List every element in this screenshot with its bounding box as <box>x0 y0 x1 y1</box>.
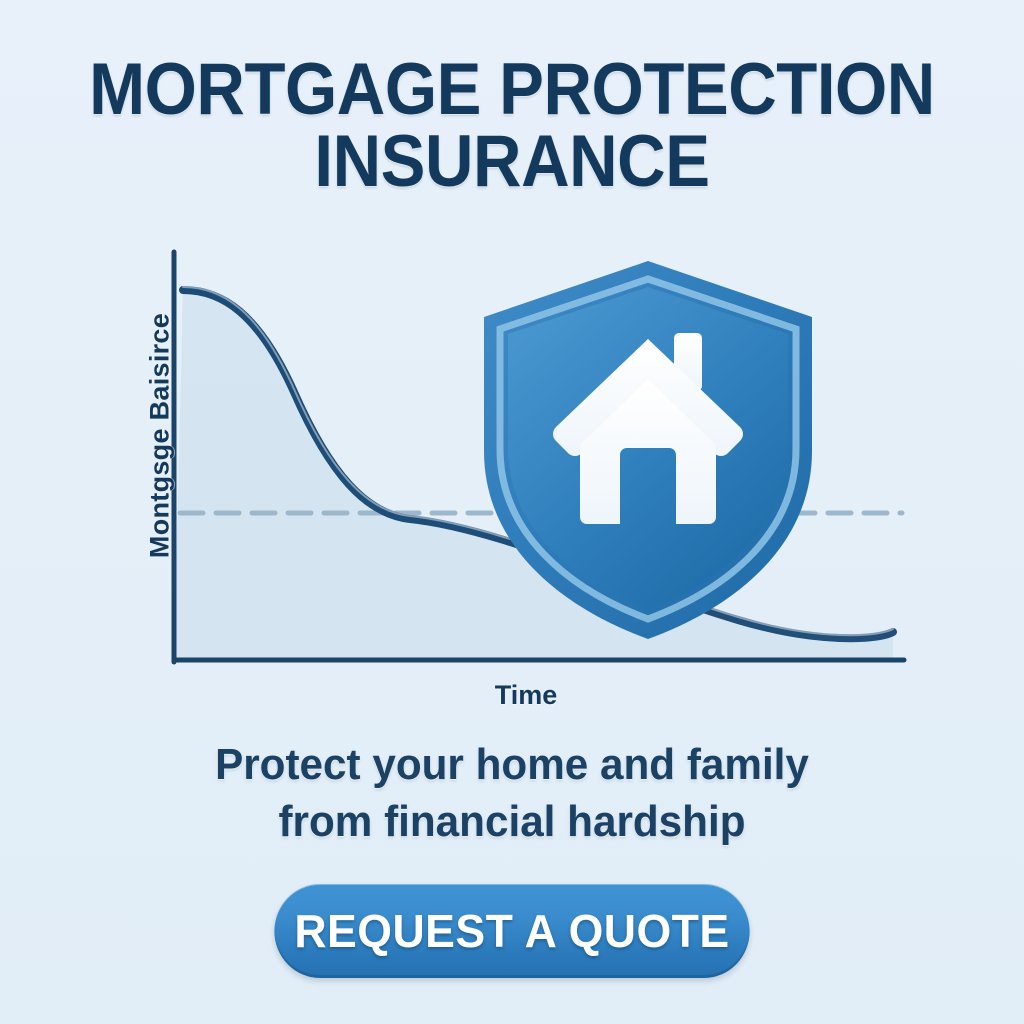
subtitle-line-2: from financial hardship <box>20 793 1003 850</box>
subtitle-line-1: Protect your home and family <box>20 736 1003 793</box>
shield-graphic <box>478 255 818 645</box>
subtitle: Protect your home and family from financ… <box>20 736 1003 850</box>
request-a-quote-button[interactable]: REQUEST A QUOTE <box>274 884 749 978</box>
cta-container: REQUEST A QUOTE <box>0 884 1024 978</box>
title-line-2: INSURANCE <box>41 126 983 198</box>
shield-icon <box>478 255 818 645</box>
poster-canvas: MORTGAGE PROTECTION INSURANCE <box>0 0 1024 1024</box>
y-axis-label: Montgsge Baisirce <box>145 286 176 586</box>
title-line-1: MORTGAGE PROTECTION <box>41 54 983 126</box>
x-axis-label: Time <box>426 680 626 711</box>
page-title: MORTGAGE PROTECTION INSURANCE <box>0 54 1024 198</box>
